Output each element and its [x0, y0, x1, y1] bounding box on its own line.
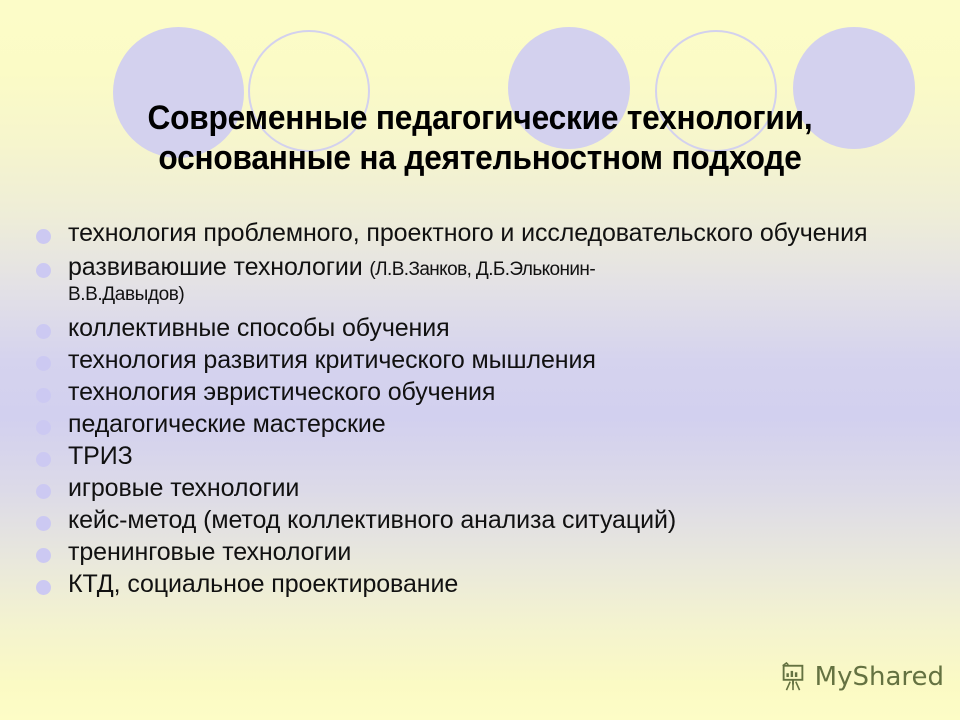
- bullet-text-main: коллективные способы обучения: [68, 314, 450, 342]
- bullet-text-main: игровые технологии: [68, 474, 299, 502]
- bullet-text: ТРИЗ: [68, 441, 936, 472]
- bullet-item: технология проблемного, проектного и исс…: [36, 218, 936, 249]
- bullet-text: КТД, социальное проектирование: [68, 569, 936, 600]
- bullet-text-main: технология развития критического мышлени…: [68, 346, 596, 374]
- bullet-dot-icon: [36, 548, 51, 563]
- bullet-item: тренинговые технологии: [36, 537, 936, 568]
- bullet-dot-icon: [36, 420, 51, 435]
- bullet-item: ТРИЗ: [36, 441, 936, 472]
- bullet-item: коллективные способы обучения: [36, 313, 936, 344]
- presentation-easel-icon: [778, 662, 808, 692]
- bullet-text: технология эвристического обучения: [68, 377, 936, 408]
- bullet-text-main: технология эвристического обучения: [68, 378, 495, 406]
- bullet-item: педагогические мастерские: [36, 409, 936, 440]
- bullet-text-annotation: (Л.В.Занков, Д.Б.Эльконин-: [369, 259, 595, 280]
- bullet-text-main: развиваюшие технологии: [68, 253, 369, 281]
- bullet-text-annotation-continued: В.В.Давыдов): [68, 279, 936, 310]
- bullet-text: развиваюшие технологии (Л.В.Занков, Д.Б.…: [68, 252, 936, 310]
- bullet-dot-icon: [36, 516, 51, 531]
- myshared-watermark: MyShared: [778, 662, 944, 692]
- bullet-item: технология развития критического мышлени…: [36, 345, 936, 376]
- bullet-text-main: кейс-метод (метод коллективного анализа …: [68, 506, 676, 534]
- bullet-text-main: ТРИЗ: [68, 442, 133, 470]
- bullet-text: кейс-метод (метод коллективного анализа …: [68, 505, 936, 536]
- bullet-dot-icon: [36, 324, 51, 339]
- bullet-text: технология проблемного, проектного и исс…: [68, 218, 936, 249]
- bullet-dot-icon: [36, 229, 51, 244]
- bullet-item: КТД, социальное проектирование: [36, 569, 936, 600]
- bullet-item: кейс-метод (метод коллективного анализа …: [36, 505, 936, 536]
- bullet-text: тренинговые технологии: [68, 537, 936, 568]
- bullet-text-main: технология проблемного, проектного и исс…: [68, 219, 867, 247]
- bullet-dot-icon: [36, 452, 51, 467]
- bullet-item: развиваюшие технологии (Л.В.Занков, Д.Б.…: [36, 252, 936, 310]
- bullet-item: технология эвристического обучения: [36, 377, 936, 408]
- bullet-dot-icon: [36, 580, 51, 595]
- watermark-label: MyShared: [815, 662, 944, 692]
- bullet-list: технология проблемного, проектного и исс…: [36, 218, 936, 601]
- bullet-text-main: тренинговые технологии: [68, 538, 351, 566]
- bullet-text: коллективные способы обучения: [68, 313, 936, 344]
- bullet-dot-icon: [36, 263, 51, 278]
- bullet-text: технология развития критического мышлени…: [68, 345, 936, 376]
- bullet-text-main: КТД, социальное проектирование: [68, 570, 458, 598]
- bullet-dot-icon: [36, 388, 51, 403]
- presentation-slide: Современные педагогические технологии, о…: [0, 0, 960, 720]
- bullet-dot-icon: [36, 356, 51, 371]
- slide-title: Современные педагогические технологии, о…: [62, 98, 899, 178]
- bullet-text: игровые технологии: [68, 473, 936, 504]
- bullet-item: игровые технологии: [36, 473, 936, 504]
- bullet-dot-icon: [36, 484, 51, 499]
- bullet-text: педагогические мастерские: [68, 409, 936, 440]
- bullet-text-main: педагогические мастерские: [68, 410, 386, 438]
